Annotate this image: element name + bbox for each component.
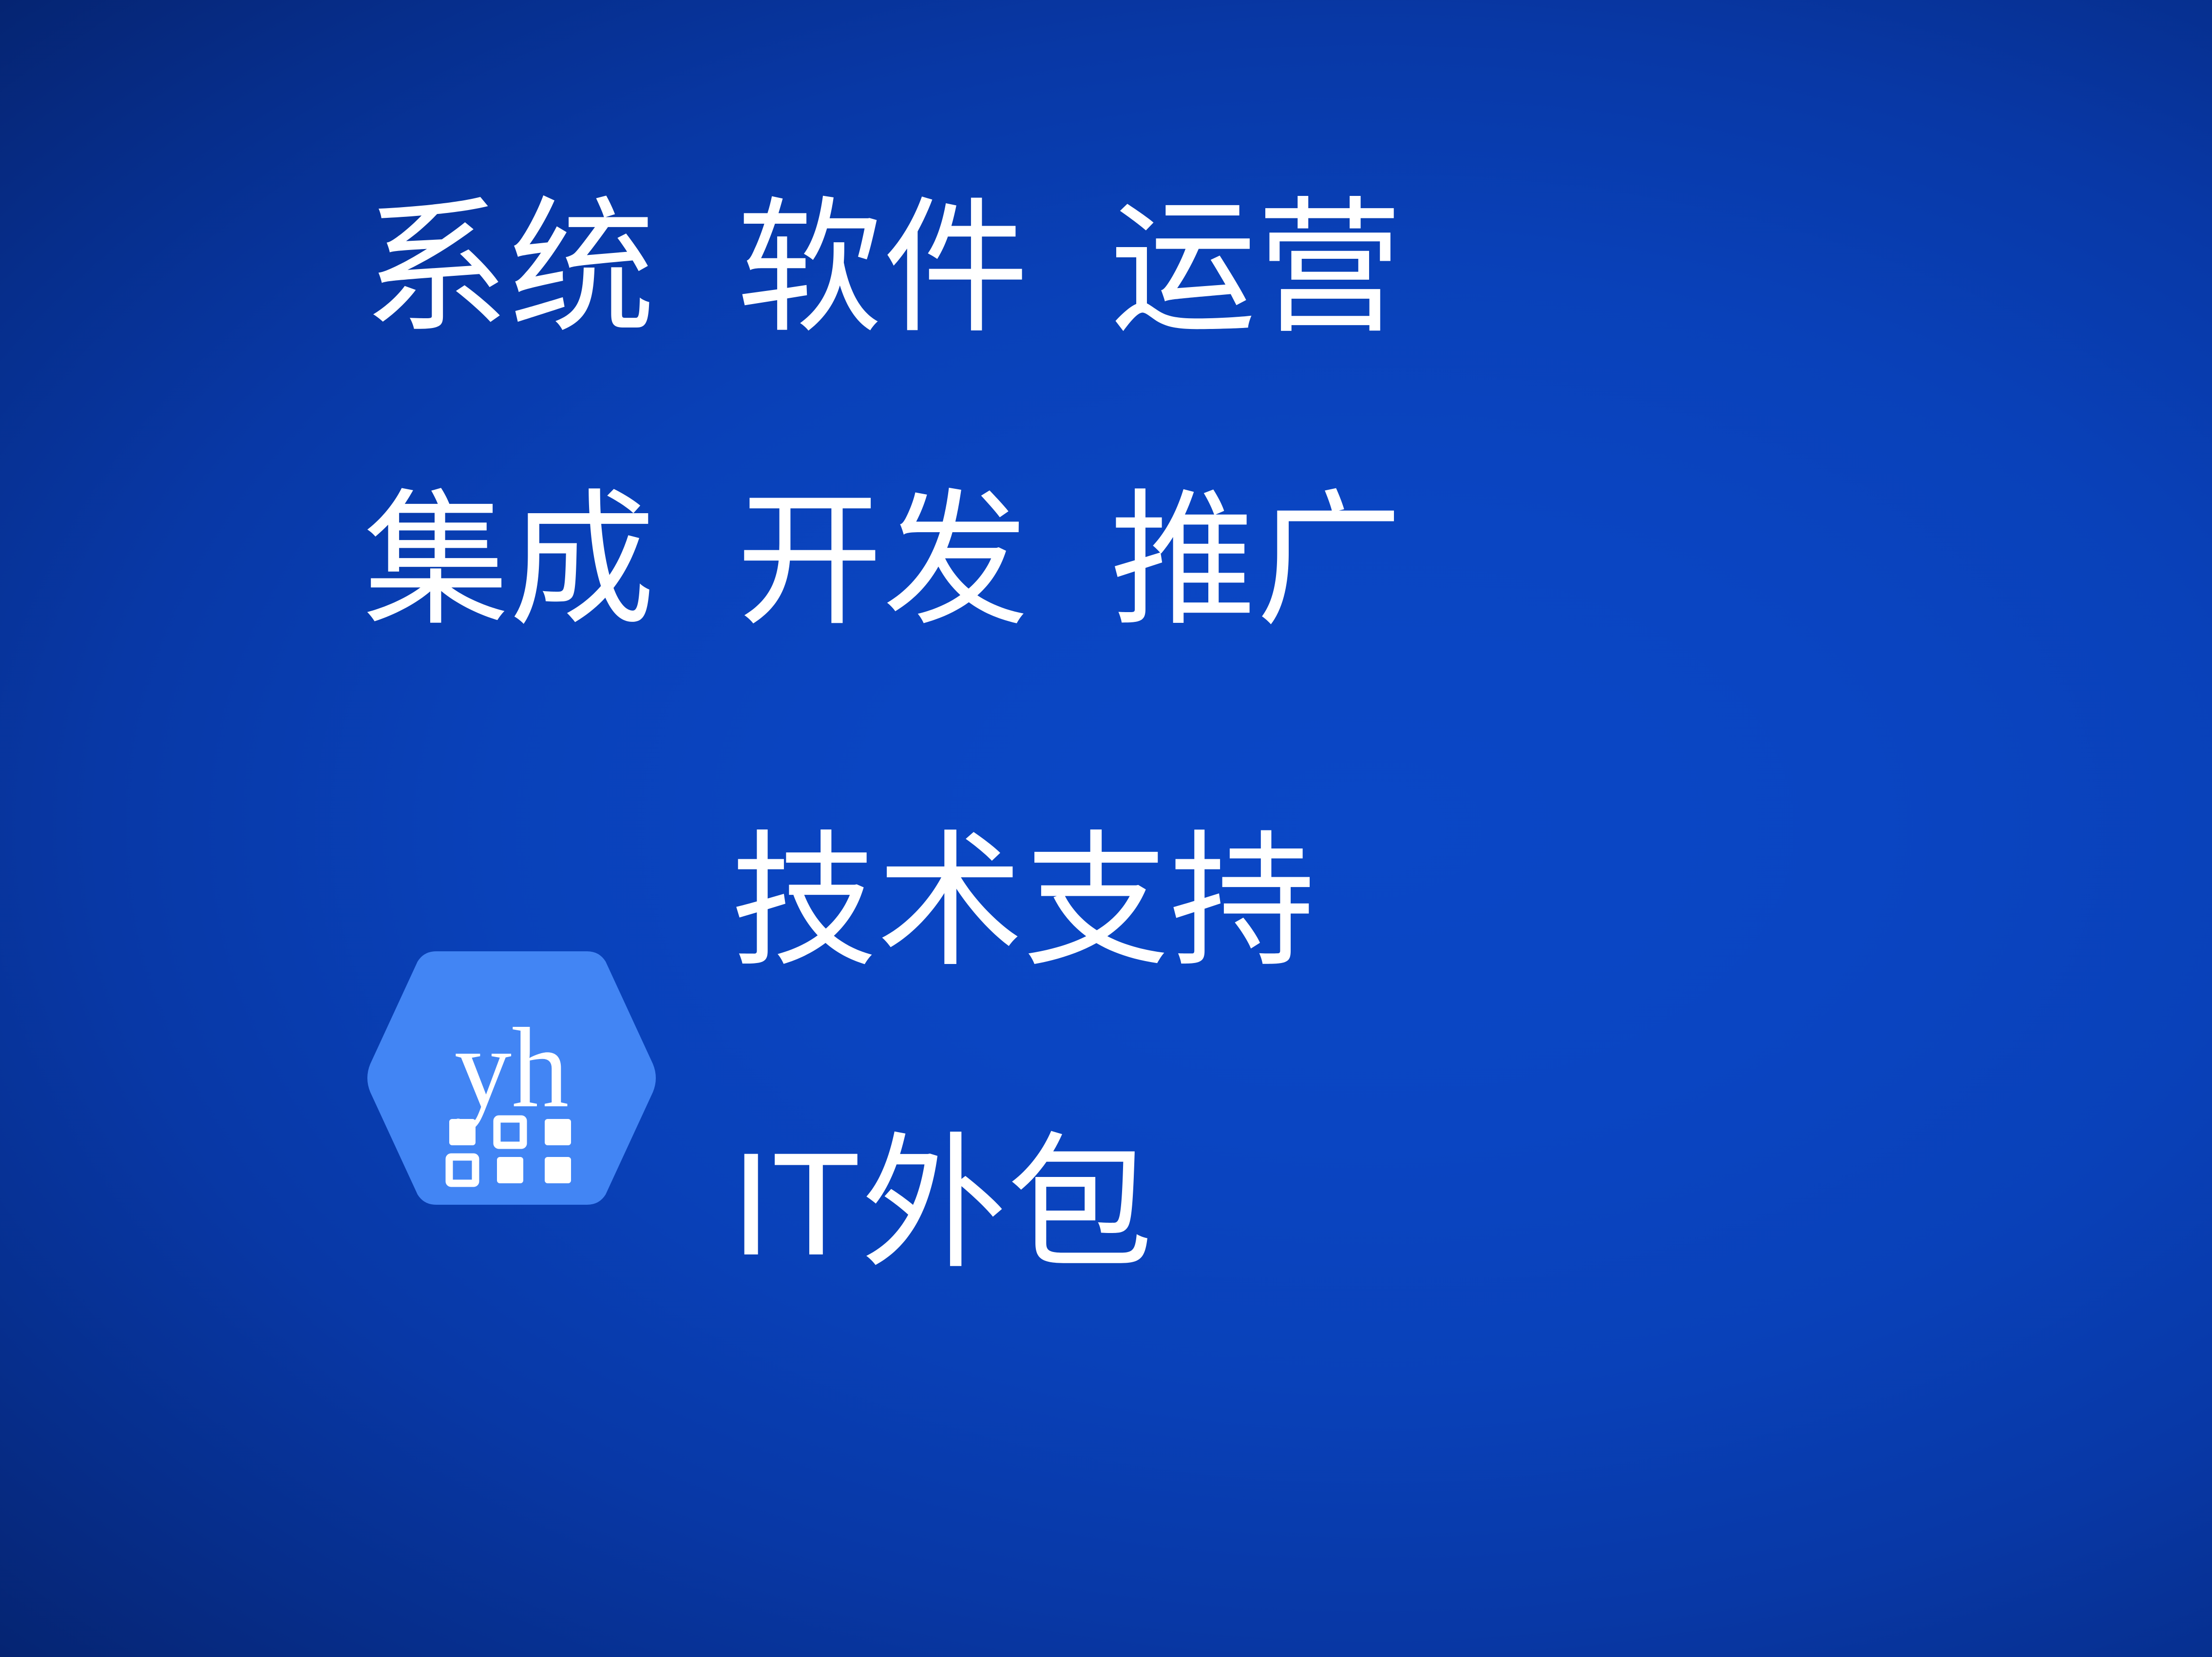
promo-poster: 系统 软件 运营 集成 开发 推广 技术支持 IT外包 yh [0, 0, 2212, 1657]
grid-cell-r2c3 [545, 1157, 571, 1183]
headline-line-3: 技术支持 [731, 828, 1316, 975]
grid-cell-r2c2 [497, 1157, 523, 1183]
hexagon-logo-icon: yh [361, 945, 663, 1211]
brand-logo: yh [361, 945, 663, 1211]
headline-line-2: 集成 开发 推广 [363, 487, 1402, 634]
headline-line-4: IT外包 [731, 1131, 1153, 1277]
headline-line-1: 系统 软件 运营 [363, 195, 1402, 341]
grid-cell-r1c1 [449, 1119, 476, 1145]
grid-cell-r1c3 [545, 1119, 571, 1145]
logo-wordmark: yh [455, 1004, 569, 1131]
